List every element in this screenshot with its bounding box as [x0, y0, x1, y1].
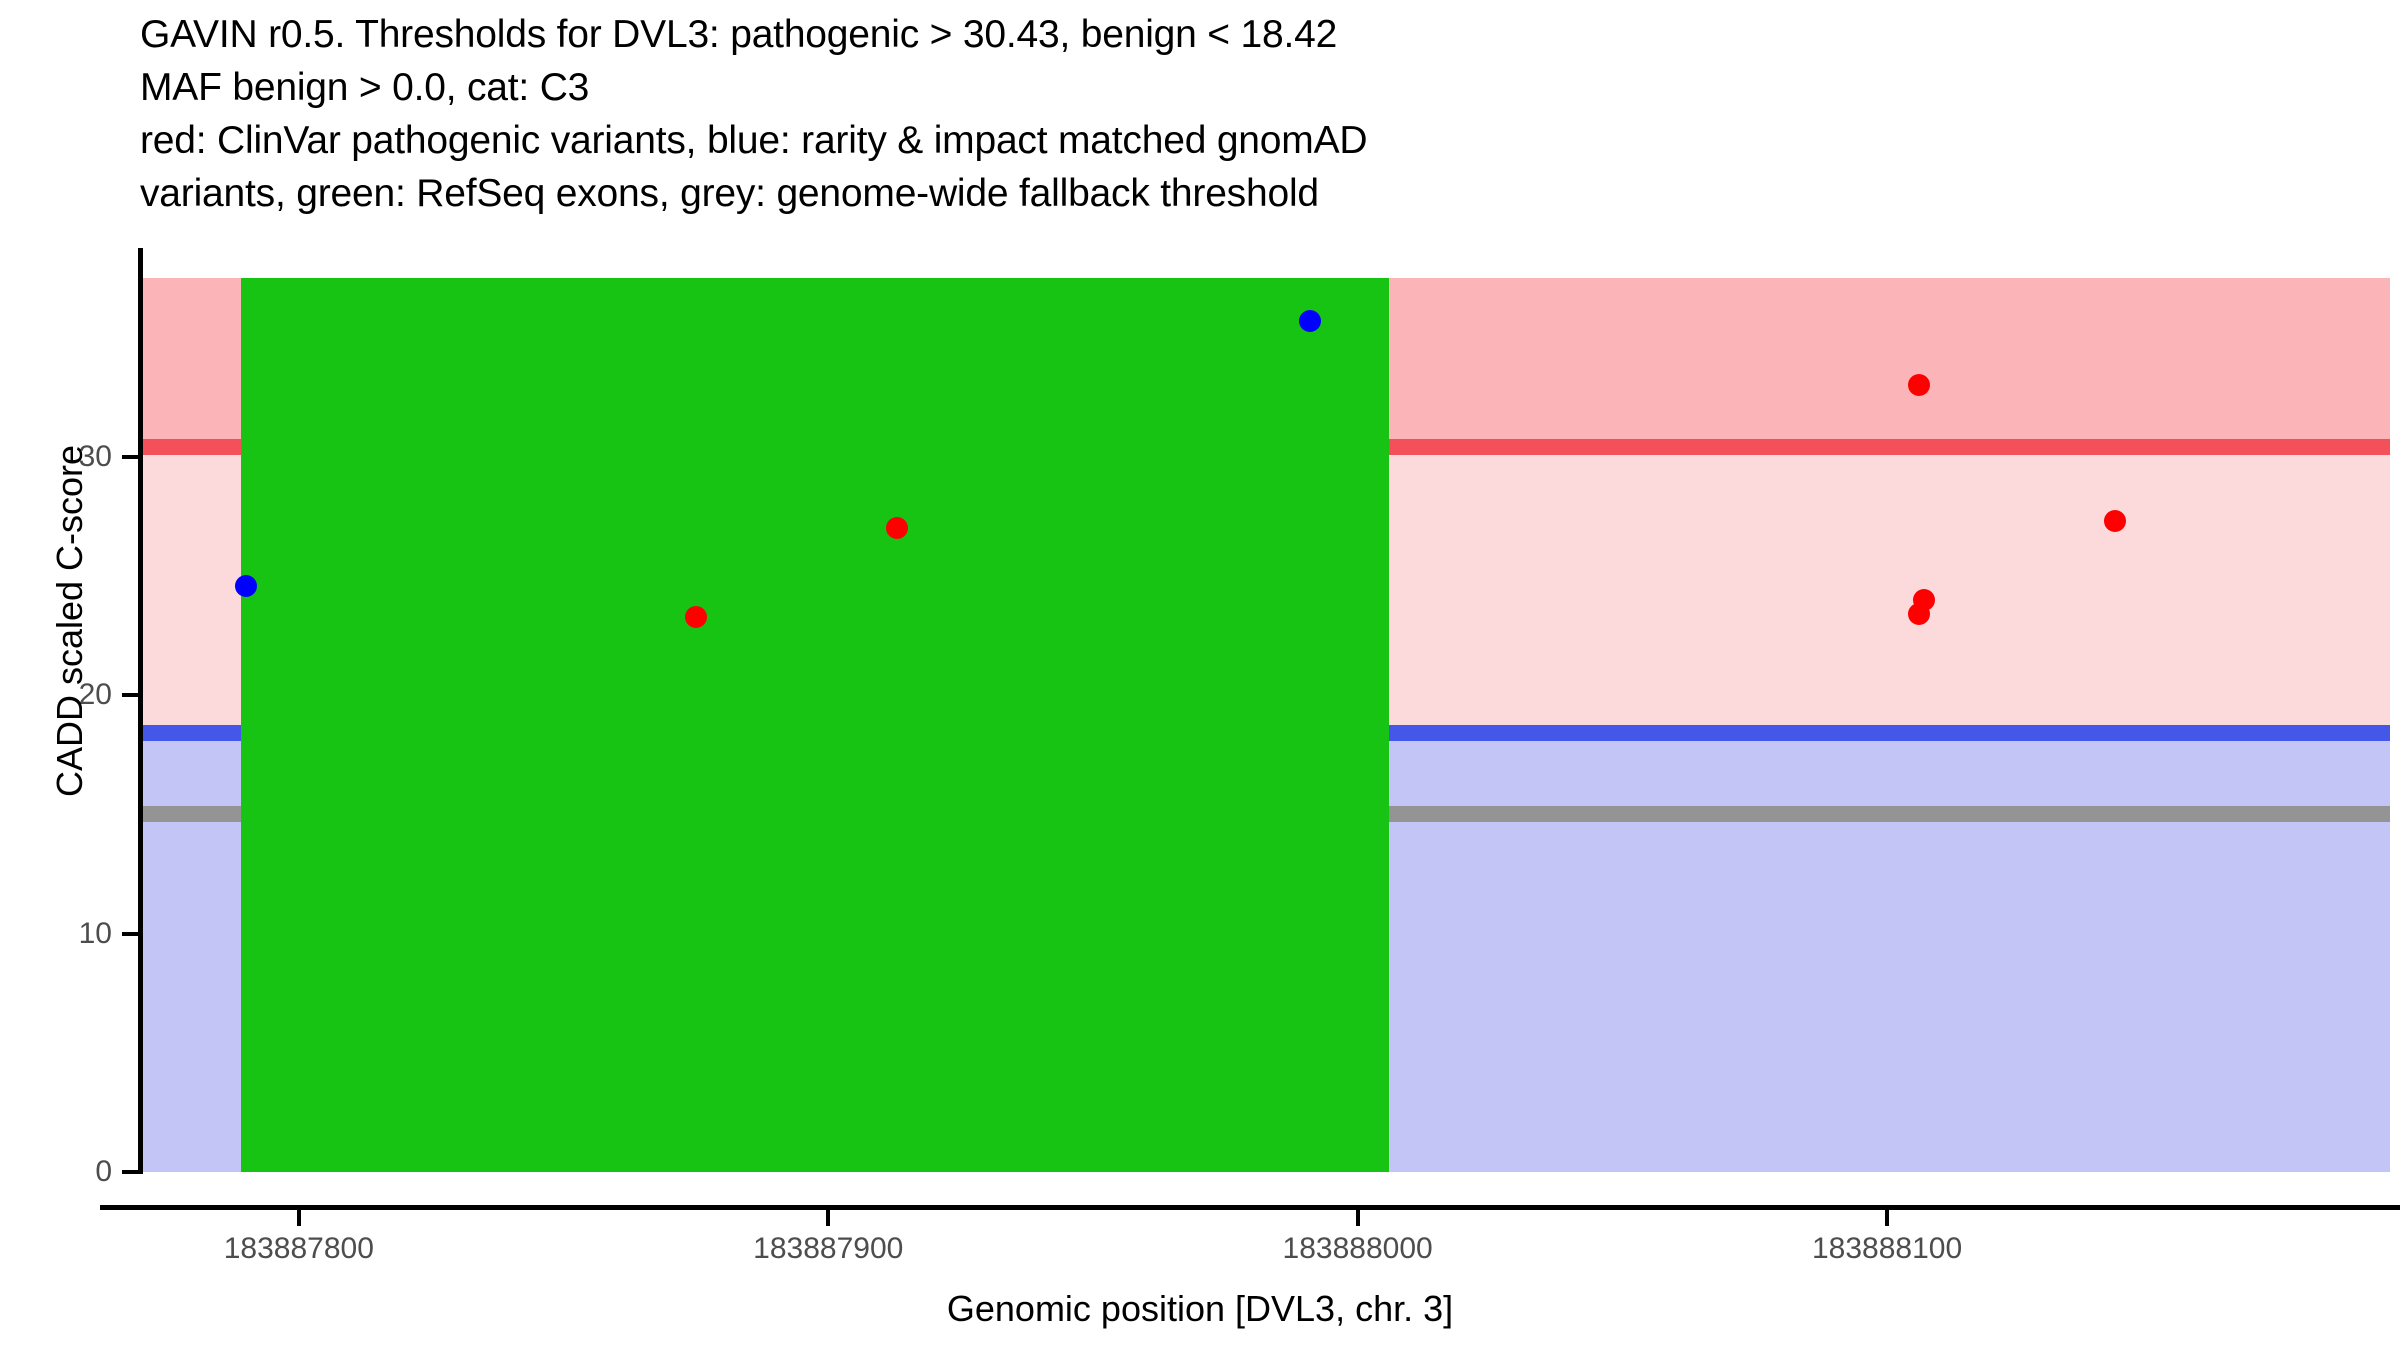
plot-area — [140, 278, 2390, 1172]
y-tick — [122, 693, 138, 697]
clinvar-variant-point — [1908, 603, 1930, 625]
title-line-1: GAVIN r0.5. Thresholds for DVL3: pathoge… — [140, 8, 2340, 61]
plot-panel — [140, 278, 2390, 1172]
chart-page: GAVIN r0.5. Thresholds for DVL3: pathoge… — [0, 0, 2400, 1350]
x-tick — [297, 1210, 301, 1226]
exon-rect — [241, 278, 1390, 1172]
chart-title-block: GAVIN r0.5. Thresholds for DVL3: pathoge… — [140, 8, 2340, 220]
x-tick-label: 183888100 — [1812, 1232, 1962, 1266]
x-axis-line — [100, 1205, 2400, 1210]
y-axis-line — [138, 248, 143, 1174]
y-tick — [122, 455, 138, 459]
gnomad-variant-point — [1299, 310, 1321, 332]
y-tick-label: 0 — [0, 1155, 112, 1189]
y-tick — [122, 1170, 138, 1174]
x-tick-label: 183887800 — [224, 1232, 374, 1266]
title-line-3: red: ClinVar pathogenic variants, blue: … — [140, 114, 2340, 167]
clinvar-variant-point — [886, 517, 908, 539]
x-tick — [1885, 1210, 1889, 1226]
title-line-4: variants, green: RefSeq exons, grey: gen… — [140, 167, 2340, 220]
clinvar-variant-point — [1908, 374, 1930, 396]
x-tick-label: 183887900 — [753, 1232, 903, 1266]
clinvar-variant-point — [2104, 510, 2126, 532]
x-axis-title: Genomic position [DVL3, chr. 3] — [0, 1288, 2400, 1330]
clinvar-variant-point — [685, 606, 707, 628]
y-tick — [122, 932, 138, 936]
gnomad-variant-point — [235, 575, 257, 597]
x-tick — [1356, 1210, 1360, 1226]
y-axis-title: CADD scaled C-score — [49, 241, 91, 1001]
x-tick-label: 183888000 — [1283, 1232, 1433, 1266]
title-line-2: MAF benign > 0.0, cat: C3 — [140, 61, 2340, 114]
x-tick — [826, 1210, 830, 1226]
